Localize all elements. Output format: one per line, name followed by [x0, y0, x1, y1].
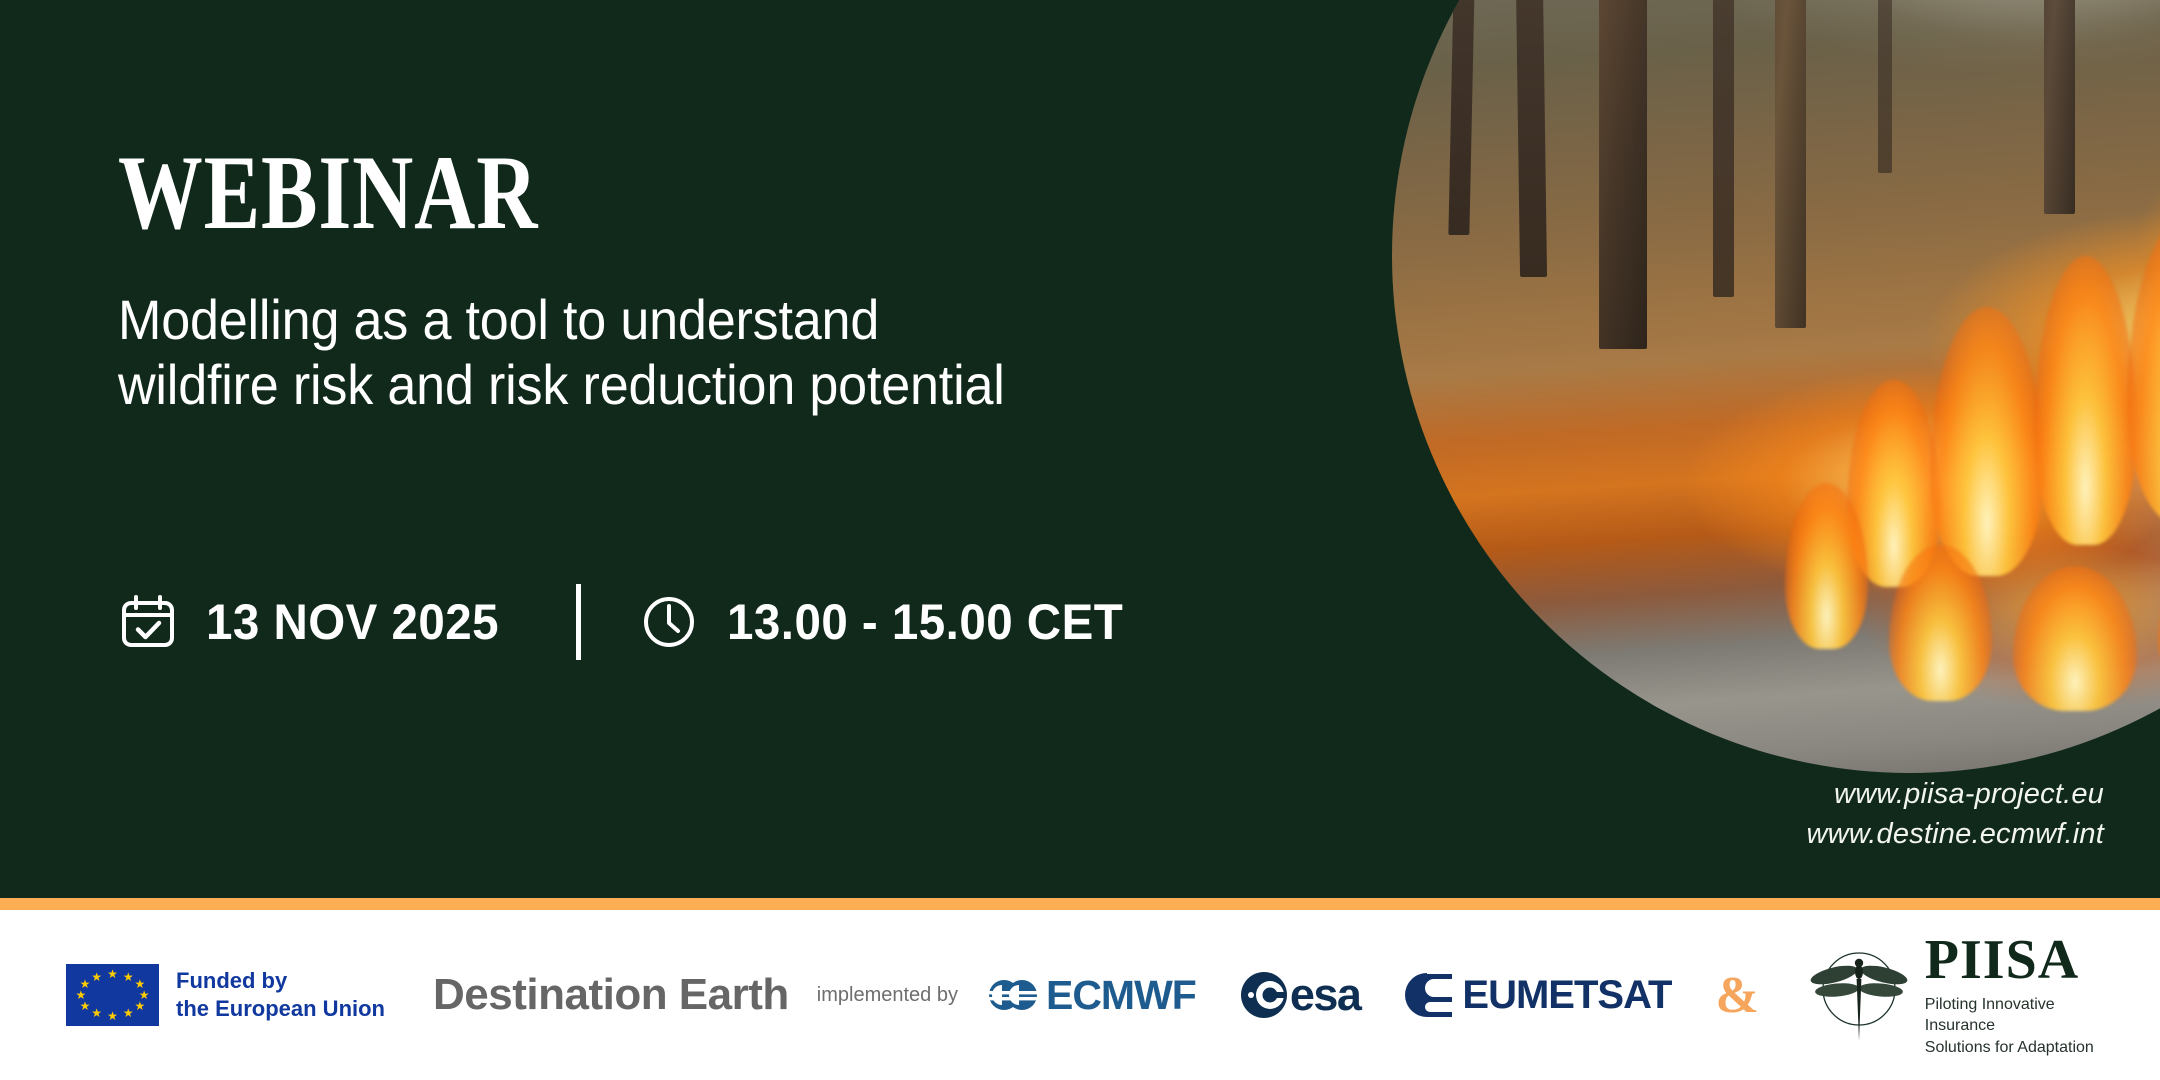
event-date: 13 NOV 2025	[118, 592, 514, 652]
flame	[1930, 307, 2044, 576]
clock-icon	[639, 592, 699, 652]
hero-text-block: WEBINAR Modelling as a tool to understan…	[118, 0, 1358, 898]
tree-trunk	[1448, 0, 1480, 235]
website-links: www.piisa-project.eu www.destine.ecmwf.i…	[1806, 774, 2104, 854]
event-time-text: 13.00 - 15.00 CET	[727, 593, 1123, 651]
implemented-by-label: implemented by	[817, 984, 958, 1007]
meta-separator	[576, 584, 581, 660]
ecmwf-logo: ECMWF	[988, 972, 1196, 1019]
tree-trunk	[1512, 0, 1547, 276]
piisa-label: PIISA	[1925, 929, 2079, 991]
webinar-banner: WEBINAR Modelling as a tool to understan…	[0, 0, 2160, 1080]
wildfire-photo-scene	[1392, 0, 2160, 773]
eu-funding-logo: ★ ★ ★ ★ ★ ★ ★ ★ ★ ★ ★ ★ Funded by the Eu…	[66, 964, 385, 1026]
destination-earth-logo: Destination Earth	[433, 970, 789, 1020]
webinar-kicker: WEBINAR	[118, 140, 538, 246]
orange-divider	[0, 898, 2160, 910]
ampersand-separator: &	[1715, 966, 1758, 1025]
webinar-headline: Modelling as a tool to understand wildfi…	[118, 288, 1005, 418]
event-meta-row: 13 NOV 2025 13.00 - 15.00 CET	[118, 572, 1145, 672]
eu-flag-icon: ★ ★ ★ ★ ★ ★ ★ ★ ★ ★ ★ ★	[66, 964, 159, 1026]
hero-section: WEBINAR Modelling as a tool to understan…	[0, 0, 2160, 898]
flame	[2034, 256, 2138, 546]
eu-funding-text: Funded by the European Union	[176, 967, 385, 1023]
dragonfly-icon	[1803, 941, 1915, 1049]
footer-logo-bar: ★ ★ ★ ★ ★ ★ ★ ★ ★ ★ ★ ★ Funded by the Eu…	[0, 910, 2160, 1080]
wildfire-photo	[1392, 0, 2160, 773]
eumetsat-logo: EUMETSAT	[1400, 971, 1671, 1019]
eumetsat-mark-icon	[1400, 971, 1454, 1019]
smoke-haze	[1806, 0, 2160, 48]
link-piisa-project[interactable]: www.piisa-project.eu	[1806, 774, 2104, 814]
event-date-text: 13 NOV 2025	[206, 593, 499, 651]
piisa-tagline: Piloting Innovative Insurance Solutions …	[1925, 994, 2120, 1057]
piisa-logo: PIISA Piloting Innovative Insurance Solu…	[1803, 932, 2120, 1057]
event-time: 13.00 - 15.00 CET	[639, 592, 1144, 652]
piisa-wordmark: PIISA Piloting Innovative Insurance Solu…	[1925, 932, 2120, 1057]
ecmwf-mark-icon	[988, 976, 1040, 1014]
esa-logo: esa	[1240, 969, 1361, 1021]
tree-trunk	[1713, 0, 1734, 297]
calendar-check-icon	[118, 592, 178, 652]
tree-trunk	[2044, 0, 2075, 214]
ecmwf-label: ECMWF	[1046, 972, 1196, 1019]
esa-mark-icon	[1240, 971, 1288, 1019]
link-destine-ecmwf[interactable]: www.destine.ecmwf.int	[1806, 814, 2104, 854]
tree-trunk	[1878, 0, 1891, 173]
esa-label: esa	[1290, 969, 1361, 1021]
eumetsat-label: EUMETSAT	[1462, 973, 1671, 1018]
tree-trunk	[1599, 0, 1647, 349]
tree-trunk	[1775, 0, 1806, 328]
